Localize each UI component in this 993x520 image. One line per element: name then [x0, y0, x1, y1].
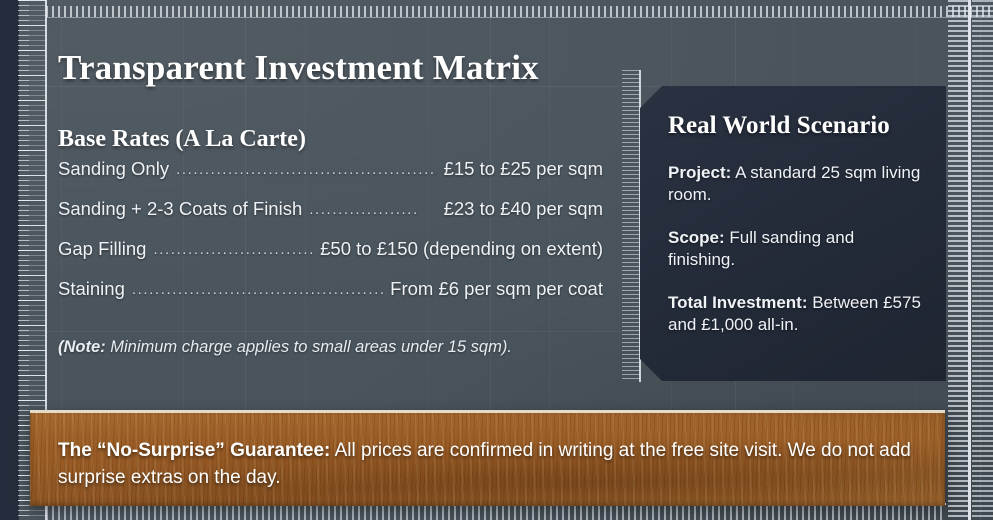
base-rates-heading: Base Rates (A La Carte)	[58, 126, 306, 153]
rate-row: Sanding Only ...........................…	[58, 158, 603, 180]
note-text: Minimum charge applies to small areas un…	[106, 338, 512, 356]
rate-value: £50 to £150 (depending on extent)	[320, 238, 603, 260]
infographic-canvas: Transparent Investment Matrix Base Rates…	[0, 0, 993, 520]
rate-name: Staining	[58, 278, 125, 300]
ruler-top-edge-line	[46, 17, 993, 18]
scenario-item-label: Scope:	[668, 228, 725, 247]
real-world-scenario-panel: Real World Scenario Project: A standard …	[640, 86, 946, 381]
guarantee-text: The “No-Surprise” Guarantee: All prices …	[58, 437, 928, 492]
rate-name: Sanding Only	[58, 158, 169, 180]
ruler-bottom-ticks	[46, 506, 946, 520]
base-rates-list: Sanding Only ...........................…	[58, 158, 603, 318]
rate-value: £23 to £40 per sqm	[444, 198, 603, 220]
minimum-charge-note: (Note: Minimum charge applies to small a…	[58, 338, 512, 357]
ruler-right-edge-line	[968, 0, 971, 520]
scenario-item-total-investment: Total Investment: Between £575 and £1,00…	[668, 292, 922, 337]
guarantee-label: The “No-Surprise” Guarantee:	[58, 440, 330, 461]
rate-leader-dots: ...................	[309, 202, 436, 217]
scenario-item-label: Project:	[668, 163, 731, 182]
rate-value: From £6 per sqm per coat	[390, 278, 603, 300]
rate-leader-dots: ............................	[153, 242, 313, 257]
rate-leader-dots: ........................................…	[132, 282, 383, 297]
page-title: Transparent Investment Matrix	[58, 48, 539, 88]
rate-row: Sanding + 2-3 Coats of Finish ..........…	[58, 198, 603, 220]
ruler-right-ticks-inner	[948, 0, 968, 520]
rate-row: Gap Filling ............................…	[58, 238, 603, 260]
left-dark-edge	[0, 0, 19, 520]
rate-row: Staining ...............................…	[58, 278, 603, 300]
rate-name: Gap Filling	[58, 238, 146, 260]
scenario-item-scope: Scope: Full sanding and finishing.	[668, 227, 922, 272]
rate-name: Sanding + 2-3 Coats of Finish	[58, 198, 302, 220]
guarantee-wood-banner: The “No-Surprise” Guarantee: All prices …	[30, 410, 945, 506]
scenario-panel-title: Real World Scenario	[668, 112, 922, 140]
ruler-divider-ticks	[622, 70, 640, 382]
scenario-item-label: Total Investment:	[668, 293, 807, 312]
rate-leader-dots: ........................................…	[176, 162, 437, 177]
scenario-panel-content: Real World Scenario Project: A standard …	[640, 86, 946, 381]
note-label: (Note:	[58, 338, 106, 356]
ruler-right-ticks-outer	[972, 0, 993, 520]
scenario-item-project: Project: A standard 25 sqm living room.	[668, 162, 922, 207]
ruler-top-ticks	[46, 6, 993, 17]
rate-value: £15 to £25 per sqm	[444, 158, 603, 180]
